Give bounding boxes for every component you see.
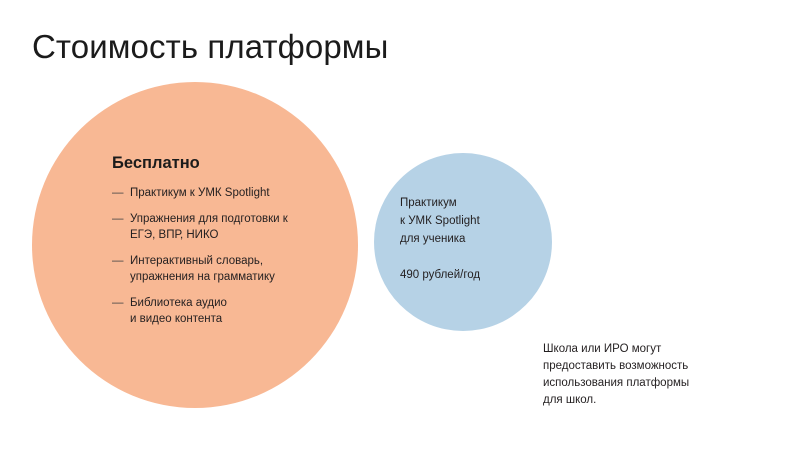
free-plan-heading: Бесплатно — [112, 152, 342, 174]
list-item: — Практикум к УМК Spotlight — [112, 185, 342, 201]
dash-bullet-icon: — — [112, 253, 130, 269]
slide-canvas: Стоимость платформы Бесплатно — Практику… — [0, 0, 800, 450]
free-plan-content: Бесплатно — Практикум к УМК Spotlight — … — [112, 152, 342, 327]
dash-bullet-icon: — — [112, 295, 130, 311]
list-item: — Упражнения для подготовки к ЕГЭ, ВПР, … — [112, 211, 342, 243]
dash-bullet-icon: — — [112, 211, 130, 227]
list-item-label: Интерактивный словарь, упражнения на гра… — [130, 253, 342, 285]
list-item-label: Практикум к УМК Spotlight — [130, 185, 342, 201]
side-note-text: Школа или ИРО могут предоставить возможн… — [543, 341, 778, 409]
list-item: — Интерактивный словарь, упражнения на г… — [112, 253, 342, 285]
list-item: — Библиотека аудио и видео контента — [112, 295, 342, 327]
dash-bullet-icon: — — [112, 185, 130, 201]
page-title: Стоимость платформы — [32, 26, 388, 68]
paid-plan-description: Практикум к УМК Spotlight для ученика — [400, 194, 530, 248]
paid-plan-price: 490 рублей/год — [400, 266, 530, 284]
list-item-label: Упражнения для подготовки к ЕГЭ, ВПР, НИ… — [130, 211, 342, 243]
list-item-label: Библиотека аудио и видео контента — [130, 295, 342, 327]
paid-plan-content: Практикум к УМК Spotlight для ученика 49… — [400, 194, 530, 284]
